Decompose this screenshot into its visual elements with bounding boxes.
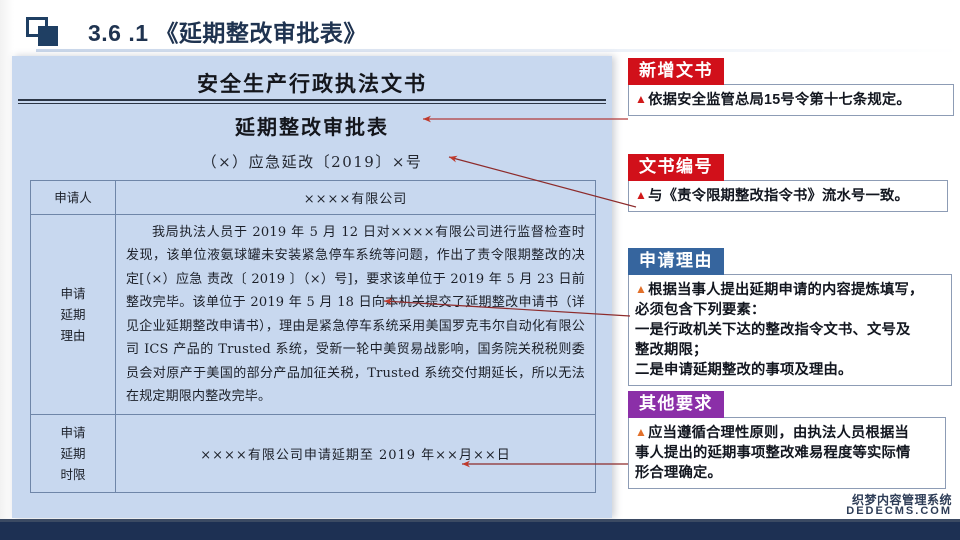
two-squares-icon	[26, 17, 60, 47]
annotation-body: ▲应当遵循合理性原则，由执法人员根据当 事人提出的延期事项整改难易程度等实际情 …	[628, 417, 946, 489]
document-rule-thin	[18, 103, 606, 104]
document-rule-thick	[18, 99, 606, 101]
row-value-deadline: ××××有限公司申请延期至 2019 年××月××日	[116, 415, 596, 493]
annotation-document-number: 文书编号 ▲与《责令限期整改指令书》流水号一致。	[628, 154, 958, 212]
triangle-marker-icon: ▲	[635, 92, 647, 106]
bottom-bar	[0, 522, 960, 540]
annotation-tag: 新增文书	[628, 58, 724, 85]
triangle-marker-icon: ▲	[635, 282, 647, 296]
annotation-line: 整改期限；	[635, 340, 945, 360]
annotation-line: 形合理确定。	[635, 463, 939, 483]
annotation-line-wrap: ▲应当遵循合理性原则，由执法人员根据当	[635, 422, 939, 443]
watermark-en: DEDECMS.COM	[846, 506, 952, 518]
annotation-line: 一是行政机关下达的整改指令文书、文号及	[635, 320, 945, 340]
annotation-tag: 文书编号	[628, 154, 724, 181]
annotation-other-requirements: 其他要求 ▲应当遵循合理性原则，由执法人员根据当 事人提出的延期事项整改难易程度…	[628, 391, 958, 489]
annotation-line: 二是申请延期整改的事项及理由。	[635, 360, 945, 380]
table-row: 申请延期理由 我局执法人员于 2019 年 5 月 12 日对××××有限公司进…	[31, 215, 596, 415]
annotation-line: 事人提出的延期事项整改难易程度等实际情	[635, 443, 939, 463]
annotation-line: 应当遵循合理性原则，由执法人员根据当	[648, 425, 909, 441]
annotation-line-wrap: ▲根据当事人提出延期申请的内容提炼填写，	[635, 279, 945, 300]
slide-header: 3.6 .1 《延期整改审批表》	[0, 0, 960, 52]
annotation-body: ▲依据安全监管总局15号令第十七条规定。	[628, 84, 954, 116]
triangle-marker-icon: ▲	[635, 188, 647, 202]
annotation-line: 必须包含下列要素：	[635, 300, 945, 320]
row-label-deadline: 申请延期时限	[31, 415, 116, 493]
row-label-applicant: 申请人	[31, 181, 116, 215]
triangle-marker-icon: ▲	[635, 425, 647, 439]
document-number: （×）应急延改〔2019〕×号	[12, 151, 612, 172]
slide-canvas: 3.6 .1 《延期整改审批表》 安全生产行政执法文书 延期整改审批表 （×）应…	[0, 0, 960, 540]
annotation-line: 根据当事人提出延期申请的内容提炼填写，	[648, 282, 923, 298]
header-divider	[36, 49, 960, 52]
watermark: 织梦内容管理系统 DEDECMS.COM	[846, 494, 952, 518]
table-row: 申请延期时限 ××××有限公司申请延期至 2019 年××月××日	[31, 415, 596, 493]
square-filled-shape	[38, 26, 58, 46]
document-panel: 安全生产行政执法文书 延期整改审批表 （×）应急延改〔2019〕×号 申请人 ×…	[12, 56, 612, 518]
document-sub-title: 延期整改审批表	[12, 111, 612, 140]
reason-paragraph: 我局执法人员于 2019 年 5 月 12 日对××××有限公司进行监督检查时发…	[126, 221, 585, 409]
annotation-column: 新增文书 ▲依据安全监管总局15号令第十七条规定。 文书编号 ▲与《责令限期整改…	[628, 58, 960, 528]
row-value-applicant: ××××有限公司	[116, 181, 596, 215]
annotation-line: 与《责令限期整改指令书》流水号一致。	[648, 188, 909, 204]
document-page: 安全生产行政执法文书 延期整改审批表 （×）应急延改〔2019〕×号 申请人 ×…	[12, 56, 612, 518]
annotation-new-document: 新增文书 ▲依据安全监管总局15号令第十七条规定。	[628, 58, 958, 116]
approval-form-table: 申请人 ××××有限公司 申请延期理由 我局执法人员于 2019 年 5 月 1…	[30, 180, 596, 493]
document-main-title: 安全生产行政执法文书	[12, 68, 612, 98]
annotation-body: ▲与《责令限期整改指令书》流水号一致。	[628, 180, 948, 212]
table-row: 申请人 ××××有限公司	[31, 181, 596, 215]
row-value-reason: 我局执法人员于 2019 年 5 月 12 日对××××有限公司进行监督检查时发…	[116, 215, 596, 415]
annotation-application-reason: 申请理由 ▲根据当事人提出延期申请的内容提炼填写， 必须包含下列要素： 一是行政…	[628, 248, 958, 386]
annotation-line: 依据安全监管总局15号令第十七条规定。	[648, 92, 911, 108]
annotation-tag: 其他要求	[628, 391, 724, 418]
row-label-reason: 申请延期理由	[31, 215, 116, 415]
annotation-tag: 申请理由	[628, 248, 724, 275]
page-title: 3.6 .1 《延期整改审批表》	[88, 14, 367, 48]
annotation-body: ▲根据当事人提出延期申请的内容提炼填写， 必须包含下列要素： 一是行政机关下达的…	[628, 274, 952, 386]
